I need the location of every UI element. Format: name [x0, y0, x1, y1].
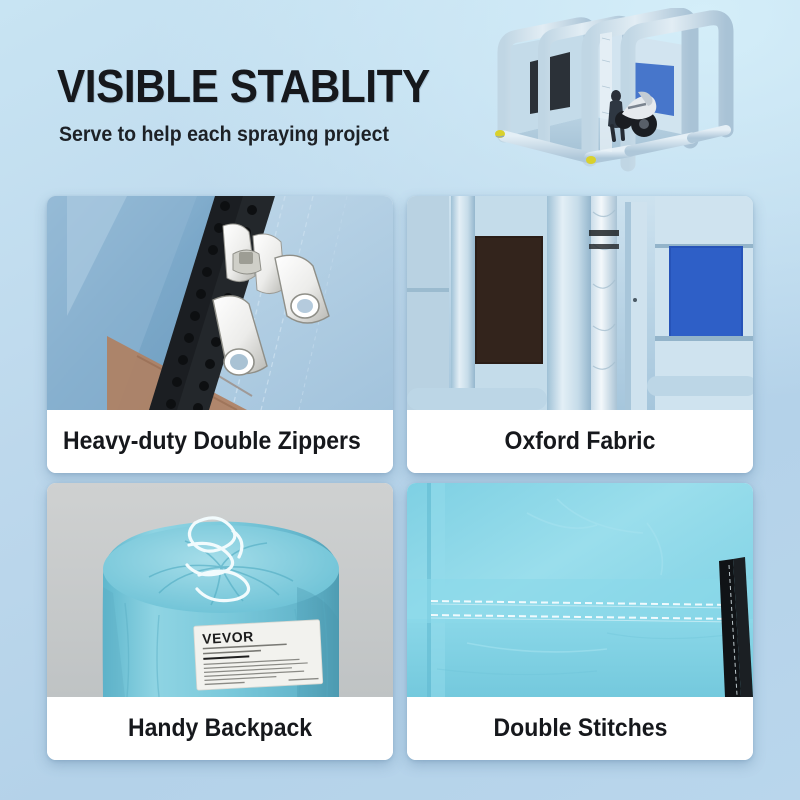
feature-card-grid: Heavy-duty Double Zippers	[47, 196, 753, 774]
feature-card-zippers[interactable]: Heavy-duty Double Zippers	[47, 196, 393, 473]
feature-card-handy-backpack[interactable]: VEVOR	[47, 483, 393, 760]
header: VISIBLE STABLITY Serve to help each spra…	[57, 62, 487, 148]
vevor-label-text: VEVOR	[202, 628, 254, 647]
caption-text: Double Stitches	[493, 714, 667, 743]
card-caption-double-stitches: Double Stitches	[407, 697, 753, 760]
feature-card-oxford-fabric[interactable]: Oxford Fabric	[407, 196, 753, 473]
caption-text: Handy Backpack	[128, 714, 312, 743]
feature-card-double-stitches[interactable]: Double Stitches	[407, 483, 753, 760]
card-caption-oxford-fabric: Oxford Fabric	[407, 410, 753, 473]
caption-text: Oxford Fabric	[505, 427, 656, 456]
page-title: VISIBLE STABLITY	[57, 62, 453, 110]
card-caption-handy-backpack: Handy Backpack	[47, 697, 393, 760]
zipper-closeup-photo	[47, 196, 393, 410]
page-subtitle: Serve to help each spraying project	[59, 122, 457, 148]
product-infographic-poster: VISIBLE STABLITY Serve to help each spra…	[0, 0, 800, 800]
hero-product-image	[478, 8, 793, 180]
caption-text: Heavy-duty Double Zippers	[63, 427, 361, 456]
oxford-fabric-photo	[407, 196, 753, 410]
double-stitch-seam-photo	[407, 483, 753, 697]
card-caption-zippers: Heavy-duty Double Zippers	[47, 410, 393, 473]
storage-bag-photo: VEVOR	[47, 483, 393, 697]
